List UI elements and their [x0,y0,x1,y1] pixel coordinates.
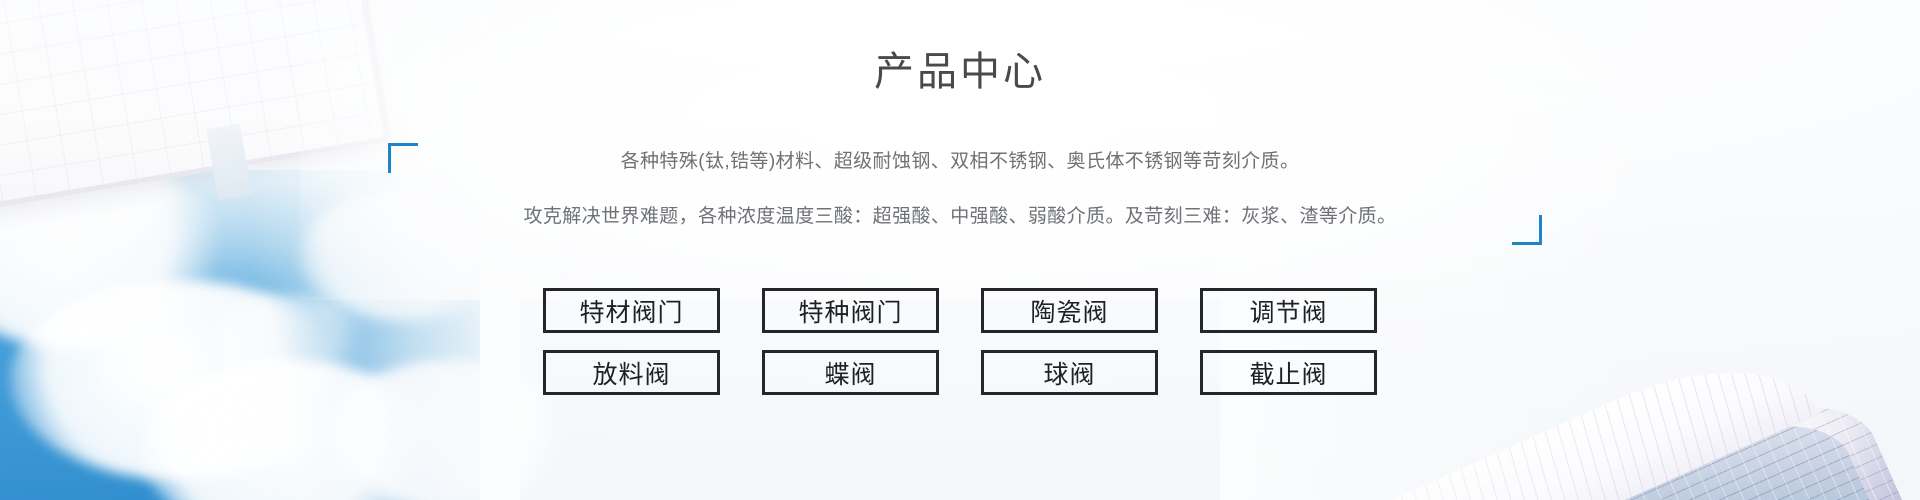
category-button-globe-valve[interactable]: 截止阀 [1200,350,1377,395]
category-button-discharge-valve[interactable]: 放料阀 [543,350,720,395]
product-category-row: 特材阀门 特种阀门 陶瓷阀 调节阀 [543,288,1377,333]
category-button-special-valve[interactable]: 特种阀门 [762,288,939,333]
category-button-label: 截止阀 [1249,355,1327,391]
product-category-grid: 特材阀门 特种阀门 陶瓷阀 调节阀 放料阀 蝶阀 [0,288,1920,395]
category-button-label: 特种阀门 [798,293,902,329]
category-button-label: 陶瓷阀 [1030,293,1108,329]
category-button-ceramic-valve[interactable]: 陶瓷阀 [981,288,1158,333]
category-button-label: 蝶阀 [824,355,876,391]
corner-bracket-bottom-right-icon [1512,215,1542,245]
category-button-label: 特材阀门 [579,293,683,329]
category-button-techai-valve[interactable]: 特材阀门 [543,288,720,333]
category-button-label: 放料阀 [592,355,670,391]
banner-description-line-2: 攻克解决世界难题，各种浓度温度三酸：超强酸、中强酸、弱酸介质。及苛刻三难：灰浆、… [0,203,1920,232]
category-button-ball-valve[interactable]: 球阀 [981,350,1158,395]
product-center-banner: 产品中心 各种特殊(钛,锆等)材料、超级耐蚀钢、双相不锈钢、奥氏体不锈钢等苛刻介… [0,0,1920,500]
page-title: 产品中心 [0,48,1920,96]
banner-content: 产品中心 各种特殊(钛,锆等)材料、超级耐蚀钢、双相不锈钢、奥氏体不锈钢等苛刻介… [0,0,1920,500]
category-button-butterfly-valve[interactable]: 蝶阀 [762,350,939,395]
category-button-label: 球阀 [1043,355,1095,391]
product-category-row: 放料阀 蝶阀 球阀 截止阀 [543,350,1377,395]
category-button-label: 调节阀 [1249,293,1327,329]
category-button-control-valve[interactable]: 调节阀 [1200,288,1377,333]
banner-description-line-1: 各种特殊(钛,锆等)材料、超级耐蚀钢、双相不锈钢、奥氏体不锈钢等苛刻介质。 [0,148,1920,177]
